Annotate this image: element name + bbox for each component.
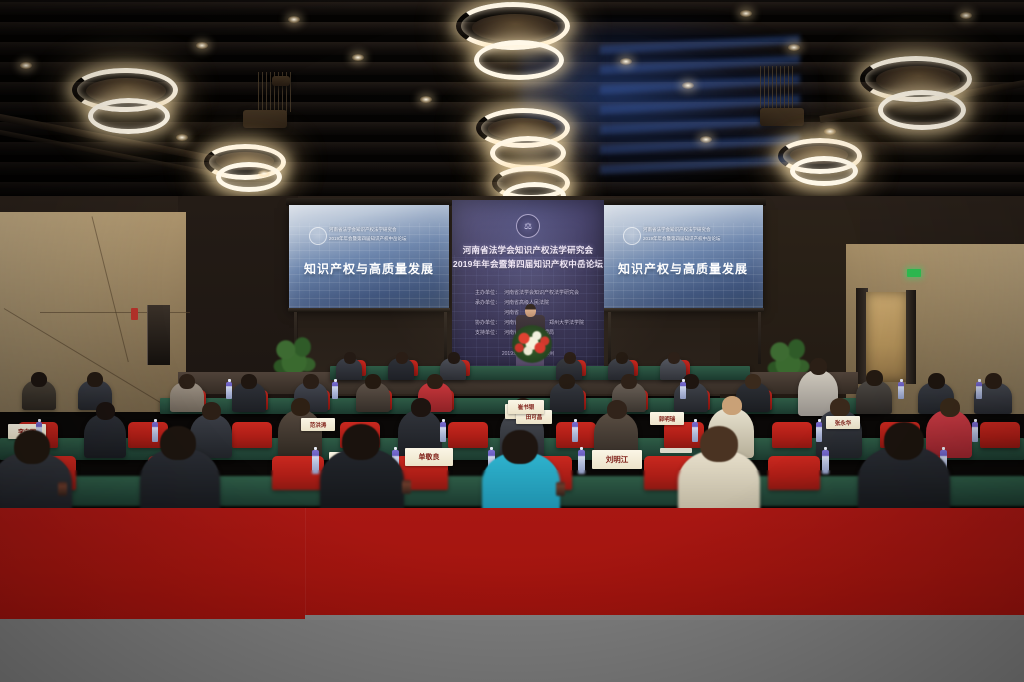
attendee-head [202,402,221,420]
projection-screen-left: 河南省法学会知识产权法学研究会 2019年年会暨第四届知识产权中岳论坛 知识产权… [289,205,449,310]
exit-sign-icon [907,269,921,277]
screen-emblem-icon [309,227,327,245]
ceiling [0,0,1024,215]
attendee-head [291,398,310,416]
water-bottle [976,382,982,399]
red-band-seam [305,508,306,620]
attendee-head [31,372,47,387]
water-bottle [578,450,585,474]
water-bottle [152,422,158,442]
screen-right-headline: 知识产权与高质量发展 [603,260,763,277]
attendee-head [616,352,628,364]
attendee [84,414,126,458]
attendee-head [668,352,680,364]
foreground-red-chairback [0,508,1024,620]
attendee [926,410,972,458]
attendee-head [241,374,257,389]
attendee-head [344,352,356,364]
vacuum-cup [402,480,411,494]
attendee-head [160,426,196,460]
attendee-head [722,396,742,415]
name-placard: 范洪涛 [301,418,335,431]
water-bottle [816,422,822,442]
screen-bottom-bar [602,308,764,312]
screen-right-header2: 2019年年会暨第四届知识产权中岳论坛 [643,236,721,242]
water-bottle [692,422,698,442]
attendee-head [928,373,945,389]
water-bottle [822,450,829,474]
chair [772,422,812,448]
attendee-head [830,398,850,417]
attendee-head [810,358,827,375]
water-bottle [572,422,578,442]
ring-pendant-light [490,136,566,170]
attendee-head [621,374,637,389]
water-bottle [440,422,446,442]
name-placard: 郭明瑞 [650,412,684,425]
water-bottle [312,450,319,474]
attendee-head [342,424,380,460]
screen-left-header2: 2019年年会暨第四届知识产权中岳论坛 [329,236,407,242]
water-bottle [972,422,978,442]
vacuum-cup [58,482,67,496]
screen-right-header1: 河南省法学会知识产权法学研究会 [643,227,711,233]
stage-spotlight-housing [272,76,290,86]
stage-spotlight-housing [243,110,287,128]
ring-pendant-light [216,162,282,192]
projection-screen-right: 河南省法学会知识产权法学研究会 2019年年会暨第四届知识产权中岳论坛 知识产权… [603,205,763,310]
attendee-head [564,352,576,364]
screen-emblem-icon [623,227,641,245]
conference-hall-photo: 河南省法学会知识产权法学研究会 2019年年会暨第四届知识产权中岳论坛 知识产权… [0,0,1024,682]
attendee-head [700,426,738,462]
stage-spotlight-housing [760,108,804,126]
grey-band-step [305,615,1024,620]
chair [232,422,272,448]
foreground-grey-floor [0,619,1024,682]
fire-alarm-icon [131,308,138,320]
attendee-head [427,374,443,389]
attendee-head [940,398,960,417]
attendee-head [745,374,761,389]
attendee-head [411,398,431,417]
chair [980,422,1020,448]
attendee-head [866,370,883,386]
name-placard: 刘明江 [592,450,642,469]
attendee-head [559,374,575,389]
ceiling-rigging [760,66,794,108]
ring-pendant-light [790,156,858,186]
screen-left-header1: 河南省法学会知识产权法学研究会 [329,227,397,233]
vacuum-cup [556,482,565,496]
chair [664,422,704,448]
screen-bottom-bar [288,308,450,312]
speaker-head [525,304,536,317]
ring-pendant-light [88,98,170,134]
name-placard: 张永华 [826,416,860,429]
ring-pendant-light [878,90,966,130]
attendee-head [96,402,115,420]
attendee-head [179,374,195,389]
chair [448,422,488,448]
attendee-head [14,430,50,464]
printed-program [660,448,692,453]
screen-left-headline: 知识产权与高质量发展 [289,260,449,277]
attendee-head [396,352,408,364]
water-bottle [332,382,338,399]
name-placard: 单敬良 [405,448,453,466]
water-bottle [226,382,232,399]
attendee-head [448,352,460,364]
attendee-head [985,373,1002,389]
water-bottle [680,382,686,399]
attendee-head [365,374,381,389]
attendee-head [502,430,538,464]
name-placard: 崔书银 [508,400,544,414]
attendee-head [303,374,319,389]
chair [768,456,820,490]
attendee-head [607,400,627,419]
water-bottle [898,382,904,399]
ring-pendant-light [474,40,564,80]
attendee-head [884,422,924,460]
attendee-head [87,372,103,387]
audience-area: 李向国 范洪涛 李宏伟 田可昌 郭明瑞 张永华 李宝林 单敬良 刘明江 崔书银 [0,352,1024,517]
